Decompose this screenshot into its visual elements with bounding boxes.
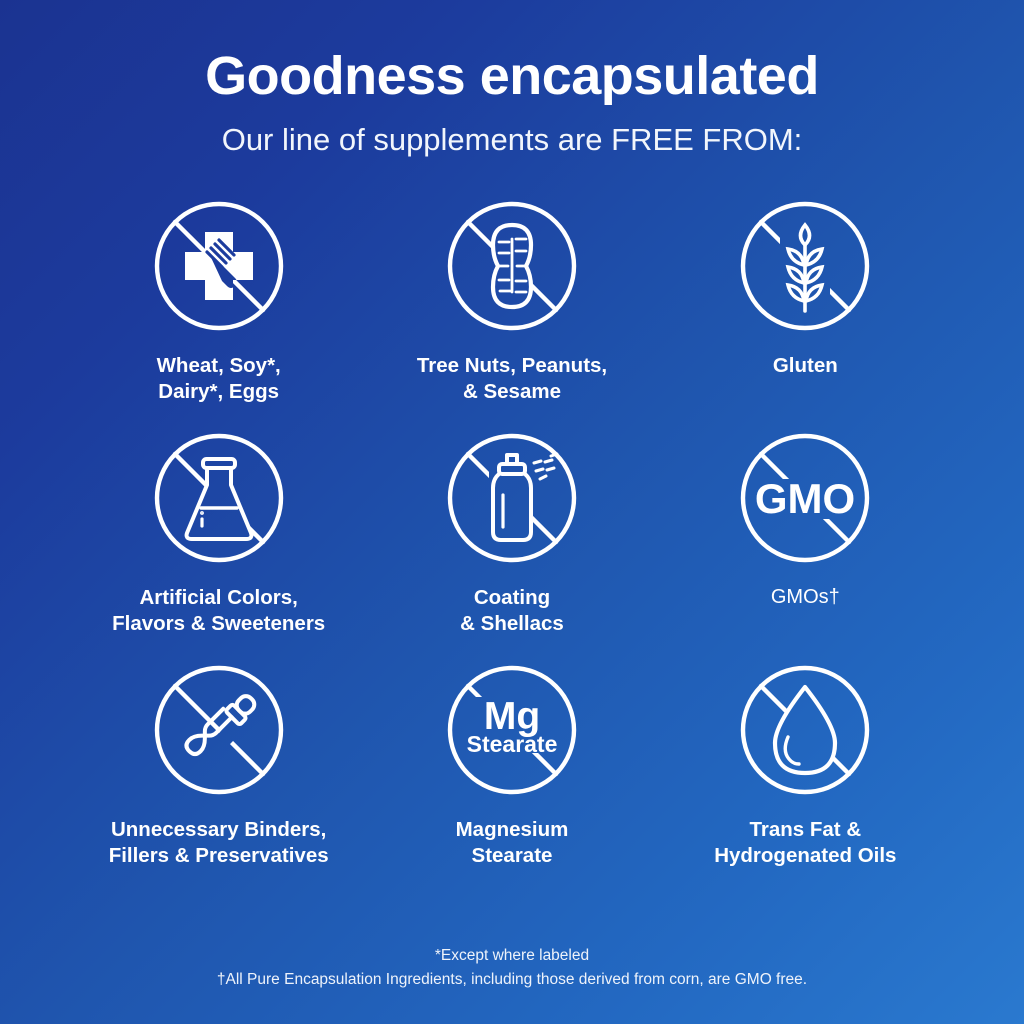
free-from-grid: Wheat, Soy*, Dairy*, Eggs (72, 195, 952, 891)
no-dropper-icon (148, 659, 290, 801)
grid-item-label: Trans Fat & Hydrogenated Oils (714, 817, 896, 869)
grid-item-gmo: GMO GMOs† (659, 427, 952, 659)
grid-item-label: GMOs† (771, 585, 840, 610)
grid-item-label: Coating & Shellacs (460, 585, 564, 637)
grid-item-nuts: Tree Nuts, Peanuts, & Sesame (365, 195, 658, 427)
stearate-text: Stearate (467, 731, 558, 757)
grid-item-artificial-colors: Artificial Colors, Flavors & Sweeteners (72, 427, 365, 659)
footnote-asterisk: *Except where labeled (0, 944, 1024, 968)
grid-item-magnesium-stearate: Mg Stearate Magnesium Stearate (365, 659, 658, 891)
grid-item-label: Unnecessary Binders, Fillers & Preservat… (109, 817, 329, 869)
infographic-poster: Goodness encapsulated Our line of supple… (0, 0, 1024, 1024)
no-peanut-icon (441, 195, 583, 337)
grid-item-allergens: Wheat, Soy*, Dairy*, Eggs (72, 195, 365, 427)
gmo-badge-text: GMO (755, 475, 855, 522)
grid-item-label: Gluten (773, 353, 838, 379)
no-wheat-stalk-icon (734, 195, 876, 337)
grid-item-label: Tree Nuts, Peanuts, & Sesame (417, 353, 607, 405)
page-title: Goodness encapsulated (205, 0, 819, 105)
grid-item-trans-fat: Trans Fat & Hydrogenated Oils (659, 659, 952, 891)
page-subtitle: Our line of supplements are FREE FROM: (222, 105, 803, 157)
no-oil-droplet-icon (734, 659, 876, 801)
no-flask-icon (148, 427, 290, 569)
no-gmo-icon: GMO (734, 427, 876, 569)
grid-item-label: Wheat, Soy*, Dairy*, Eggs (157, 353, 281, 405)
grid-item-coating: Coating & Shellacs (365, 427, 658, 659)
grid-item-binders: Unnecessary Binders, Fillers & Preservat… (72, 659, 365, 891)
grid-item-gluten: Gluten (659, 195, 952, 427)
grid-item-label: Artificial Colors, Flavors & Sweeteners (112, 585, 325, 637)
no-magnesium-stearate-icon: Mg Stearate (441, 659, 583, 801)
no-cross-fork-icon (148, 195, 290, 337)
footnote-dagger: †All Pure Encapsulation Ingredients, inc… (0, 968, 1024, 992)
grid-item-label: Magnesium Stearate (456, 817, 569, 869)
no-spray-can-icon (441, 427, 583, 569)
footnotes: *Except where labeled †All Pure Encapsul… (0, 944, 1024, 992)
